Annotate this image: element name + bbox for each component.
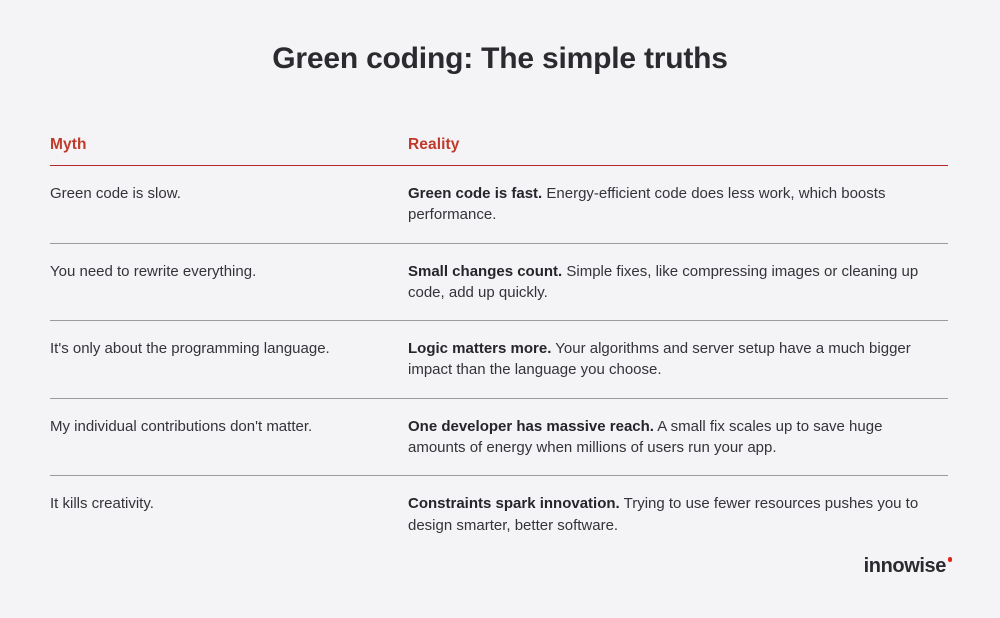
cell-myth: My individual contributions don't matter… — [50, 416, 408, 437]
column-header-myth: Myth — [50, 136, 408, 154]
reality-lead: Small changes count. — [408, 263, 562, 280]
table-row: You need to rewrite everything. Small ch… — [50, 244, 948, 322]
cell-reality: Logic matters more. Your algorithms and … — [408, 338, 948, 381]
innowise-logo: innowise — [864, 556, 952, 576]
table-row: It kills creativity. Constraints spark i… — [50, 476, 948, 553]
table-header-row: Myth Reality — [50, 136, 948, 166]
cell-reality: Small changes count. Simple fixes, like … — [408, 261, 948, 304]
page-title: Green coding: The simple truths — [0, 42, 1000, 76]
reality-lead: Constraints spark innovation. — [408, 495, 620, 512]
table-row: Green code is slow. Green code is fast. … — [50, 166, 948, 244]
cell-reality: Green code is fast. Energy-efficient cod… — [408, 183, 948, 226]
myth-reality-table: Myth Reality Green code is slow. Green c… — [50, 136, 948, 553]
cell-myth: It kills creativity. — [50, 493, 408, 514]
column-header-reality: Reality — [408, 136, 948, 154]
infographic-page: Green coding: The simple truths Myth Rea… — [0, 0, 1000, 618]
cell-myth: Green code is slow. — [50, 183, 408, 204]
cell-myth: It's only about the programming language… — [50, 338, 408, 359]
cell-myth: You need to rewrite everything. — [50, 261, 408, 282]
table-row: My individual contributions don't matter… — [50, 399, 948, 477]
logo-dot-icon — [948, 557, 953, 562]
table-row: It's only about the programming language… — [50, 321, 948, 399]
reality-lead: One developer has massive reach. — [408, 418, 654, 435]
cell-reality: One developer has massive reach. A small… — [408, 416, 948, 459]
reality-lead: Logic matters more. — [408, 340, 551, 357]
reality-lead: Green code is fast. — [408, 185, 542, 202]
cell-reality: Constraints spark innovation. Trying to … — [408, 493, 948, 536]
logo-wordmark: innowise — [864, 556, 946, 576]
